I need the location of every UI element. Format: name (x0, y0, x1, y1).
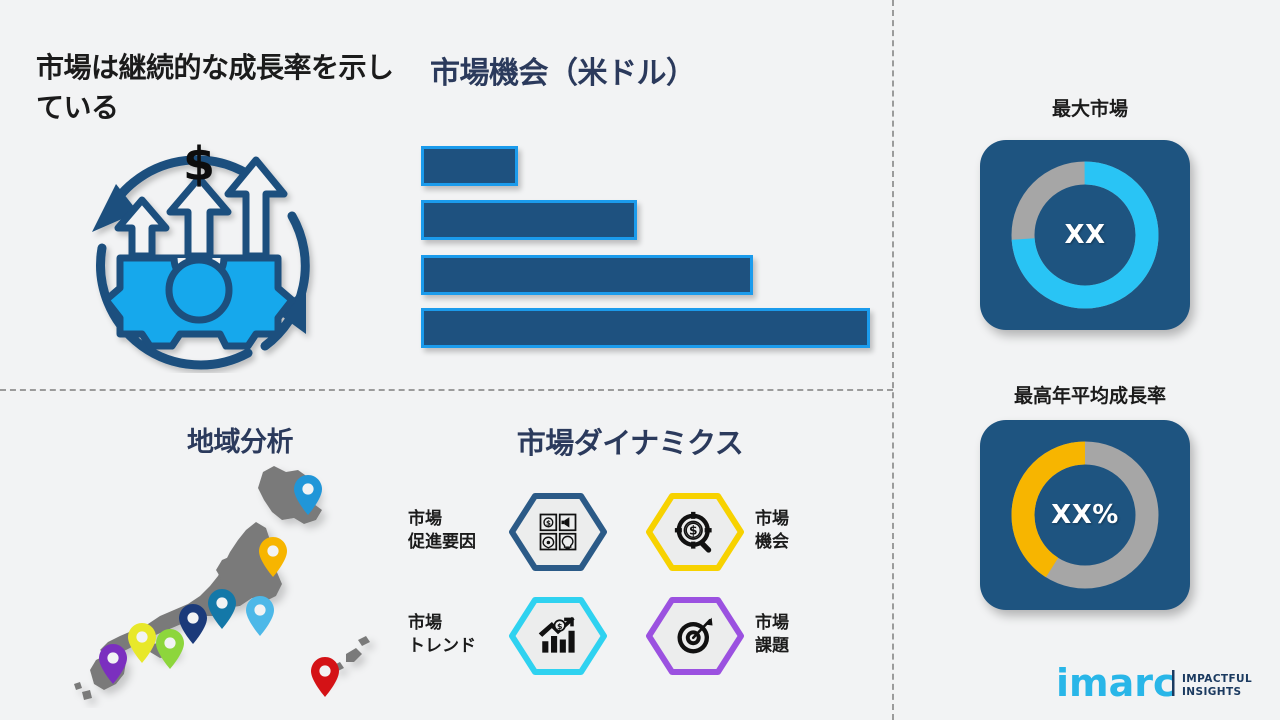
svg-text:$: $ (689, 524, 698, 538)
svg-text:$: $ (183, 138, 215, 191)
vertical-divider (892, 0, 894, 720)
horizontal-divider (0, 389, 893, 391)
market-opportunities-label: 市場 機会 (755, 508, 845, 554)
largest-market-heading: 最大市場 (960, 94, 1220, 121)
highest-cagr-value: XX% (980, 500, 1190, 530)
largest-market-value: XX (980, 220, 1190, 250)
market-trends-hex[interactable]: $ (508, 596, 608, 676)
market-challenges-label: 市場 課題 (755, 612, 845, 658)
market-challenges-hex[interactable] (645, 596, 745, 676)
pin-chubu[interactable] (207, 588, 237, 630)
bar-3 (421, 255, 753, 295)
market-drivers-hex[interactable]: $ (508, 492, 608, 572)
pin-kyushu[interactable] (98, 643, 128, 685)
pin-okinawa[interactable] (310, 656, 340, 698)
market-drivers[interactable]: 市場 促進要因 $ (408, 488, 608, 574)
bar-2 (421, 200, 637, 240)
pin-hokkaido[interactable] (293, 474, 323, 516)
market-opportunities[interactable]: $ 市場 機会 (645, 488, 845, 574)
market-trends[interactable]: 市場 トレンド $ (408, 592, 608, 678)
opportunity-bar-chart (421, 146, 881, 356)
highest-cagr-donut-card: XX% (980, 420, 1190, 610)
growth-bar-chart-icon: $ (508, 596, 608, 676)
logo-divider (1172, 670, 1175, 696)
opportunity-heading: 市場機会（米ドル） (430, 48, 850, 92)
growth-gear-dollar-icon: $ (70, 138, 325, 373)
market-trends-label: 市場 トレンド (408, 612, 502, 658)
puzzle-pieces-icon: $ (508, 492, 608, 572)
market-drivers-label: 市場 促進要因 (408, 508, 502, 554)
market-challenges[interactable]: 市場 課題 (645, 592, 845, 678)
growth-heading: 市場は継続的な成長率を示している (36, 48, 396, 128)
svg-text:$: $ (557, 622, 562, 631)
logo-wordmark: imarc (1056, 661, 1176, 705)
bar-1 (421, 146, 518, 186)
logo-tagline-line1: IMPACTFUL (1182, 673, 1252, 685)
pin-chugoku[interactable] (155, 628, 185, 670)
highest-cagr-heading: 最高年平均成長率 (955, 381, 1225, 408)
infographic-canvas: 市場は継続的な成長率を示している (0, 0, 1280, 720)
pin-tohoku[interactable] (258, 536, 288, 578)
market-opportunities-hex[interactable]: $ (645, 492, 745, 572)
largest-market-donut-card: XX (980, 140, 1190, 330)
regional-heading: 地域分析 (110, 420, 370, 459)
target-arrow-icon (645, 596, 745, 676)
svg-text:$: $ (546, 519, 551, 527)
bar-4 (421, 308, 870, 348)
logo-tagline-line2: INSIGHTS (1182, 686, 1242, 698)
pin-shikoku[interactable] (127, 622, 157, 664)
dynamics-heading: 市場ダイナミクス (440, 420, 820, 462)
pin-kanto[interactable] (245, 595, 275, 637)
magnifier-dollar-icon: $ (645, 492, 745, 572)
imarc-logo: imarc IMPACTFUL INSIGHTS (1056, 660, 1256, 706)
